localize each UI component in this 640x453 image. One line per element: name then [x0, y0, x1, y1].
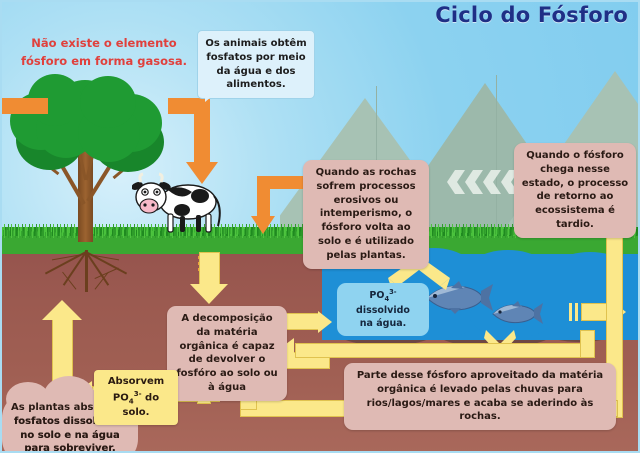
orange-arrow-head — [251, 216, 275, 234]
dissolved-phosphate-label: PO43- dissolvido na água. — [337, 283, 429, 336]
phosphorus-cycle-diagram: Ciclo do Fósforo Não existe o elemento f… — [0, 0, 640, 453]
absorb-soil-label: Absorvem PO43- do solo. — [94, 370, 178, 425]
animals-textbox: Os animais obtêm fosfatos por meio da ág… — [197, 30, 315, 99]
yellow-arrow-head — [42, 300, 82, 320]
dissolved-formula-prefix: PO — [369, 290, 384, 301]
absorb-line-1: Absorvem — [100, 375, 172, 389]
gas-note: Não existe o elemento fósforo em forma g… — [14, 35, 194, 71]
yellow-arrow-head — [318, 311, 332, 333]
rain-textbox: Parte desse fósforo aproveitado da matér… — [344, 363, 616, 430]
yellow-arrow-shaft — [199, 252, 220, 286]
yellow-arrow-shaft — [295, 343, 595, 358]
dissolved-line-1: PO43- dissolvido — [344, 288, 422, 317]
state-textbox: Quando o fósforo chega nesse estado, o p… — [514, 143, 636, 238]
dissolved-formula-sup: 3- — [389, 288, 396, 296]
decomposition-textbox: A decomposição da matéria orgânica é cap… — [167, 306, 287, 401]
dissolved-formula-suffix: dissolvido — [356, 305, 410, 316]
yellow-arrow-head — [190, 284, 228, 304]
orange-arrow-head — [186, 162, 218, 184]
chevron-left-icon — [441, 170, 519, 198]
page-title: Ciclo do Fósforo — [435, 3, 628, 27]
fish-icon — [490, 300, 544, 326]
dissolved-line-2: na água. — [344, 317, 422, 330]
yellow-arrow-shaft — [580, 330, 595, 358]
yellow-arrow-stripe — [575, 303, 578, 321]
orange-arrow-shaft — [257, 176, 270, 219]
tree-canopy — [80, 76, 136, 128]
animals-textbox-tail — [205, 92, 217, 102]
absorb-formula-sup: 3- — [134, 389, 142, 398]
rocks-textbox: Quando as rochas sofrem processos erosiv… — [303, 160, 429, 269]
orange-arrow-shaft — [0, 98, 48, 114]
yellow-arrow-shaft — [284, 313, 320, 330]
mountain-ridge-line — [496, 75, 497, 243]
absorb-line-2: PO43- do solo. — [100, 389, 172, 420]
absorb-formula-prefix: PO — [113, 392, 129, 403]
yellow-arrow-stripe — [569, 303, 572, 321]
dissolved-formula-sub: 4 — [384, 295, 389, 303]
orange-arrow-shaft — [194, 98, 210, 166]
